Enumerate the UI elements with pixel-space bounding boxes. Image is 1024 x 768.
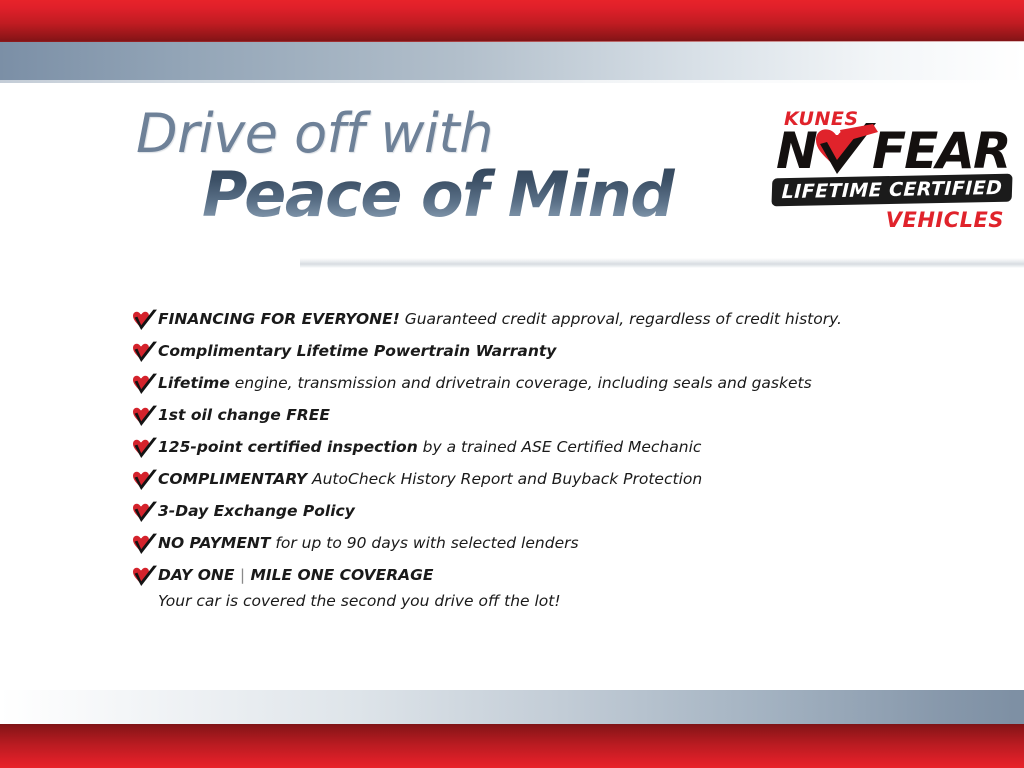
bottom-red-band	[0, 724, 1024, 768]
benefit-text: Lifetime engine, transmission and drivet…	[158, 372, 812, 394]
logo-certified-bar-text: LIFETIME CERTIFIED	[771, 174, 1012, 207]
page-title: Drive off with Peace of Mind	[136, 104, 756, 228]
benefit-detail: AutoCheck History Report and Buyback Pro…	[307, 470, 702, 488]
logo-nofear-wordmark: N FEAR	[776, 126, 1014, 176]
top-gray-band	[0, 42, 1024, 83]
heart-check-icon	[132, 437, 158, 459]
benefit-text: Complimentary Lifetime Powertrain Warran…	[158, 340, 556, 362]
benefit-headline: 125-point certified inspection	[158, 438, 418, 456]
heart-check-icon	[132, 341, 158, 363]
kunes-no-fear-logo: KUNES N FEAR LIFETIME CERTIFIED VEHICLES	[770, 108, 1014, 240]
heart-check-icon	[132, 533, 158, 555]
heart-check-icon	[132, 469, 158, 491]
header-divider	[300, 258, 1024, 268]
benefit-item: NO PAYMENT for up to 90 days with select…	[132, 530, 932, 562]
heart-check-icon	[132, 373, 158, 395]
logo-certified-bar: LIFETIME CERTIFIED	[771, 174, 1012, 207]
benefit-detail: for up to 90 days with selected lenders	[270, 534, 578, 552]
benefit-item: 125-point certified inspection by a trai…	[132, 434, 932, 466]
benefit-item: 1st oil change FREE	[132, 402, 932, 434]
top-red-band	[0, 0, 1024, 42]
benefit-detail: engine, transmission and drivetrain cove…	[230, 374, 812, 392]
benefit-item: 3-Day Exchange Policy	[132, 498, 932, 530]
benefit-text: COMPLIMENTARY AutoCheck History Report a…	[158, 468, 702, 490]
logo-word-fear: FEAR	[872, 126, 1010, 176]
benefit-item: Complimentary Lifetime Powertrain Warran…	[132, 338, 932, 370]
benefit-headline: Complimentary Lifetime Powertrain Warran…	[158, 342, 556, 360]
benefit-detail: by a trained ASE Certified Mechanic	[418, 438, 702, 456]
benefit-text: 125-point certified inspection by a trai…	[158, 436, 701, 458]
benefit-detail: Guaranteed credit approval, regardless o…	[400, 310, 842, 328]
benefit-text: 3-Day Exchange Policy	[158, 500, 355, 522]
benefit-item: COMPLIMENTARY AutoCheck History Report a…	[132, 466, 932, 498]
heart-check-icon	[132, 565, 158, 587]
benefit-headline: DAY ONE | MILE ONE COVERAGE	[158, 566, 434, 584]
benefit-subtext: Your car is covered the second you drive…	[132, 590, 932, 612]
heart-check-icon	[132, 309, 158, 331]
logo-vehicles-text: VEHICLES	[886, 208, 1004, 232]
header: Drive off with Peace of Mind KUNES N FEA…	[0, 96, 1024, 266]
bottom-banner	[0, 690, 1024, 768]
benefits-list: FINANCING FOR EVERYONE! Guaranteed credi…	[132, 306, 932, 612]
headline-line-2: Peace of Mind	[136, 162, 756, 228]
benefit-headline: COMPLIMENTARY	[158, 470, 307, 488]
top-banner	[0, 0, 1024, 84]
benefit-item: FINANCING FOR EVERYONE! Guaranteed credi…	[132, 306, 932, 338]
benefit-headline: FINANCING FOR EVERYONE!	[158, 310, 400, 328]
benefit-text: NO PAYMENT for up to 90 days with select…	[158, 532, 579, 554]
benefit-headline: NO PAYMENT	[158, 534, 270, 552]
benefit-headline: 1st oil change FREE	[158, 406, 330, 424]
benefit-text: DAY ONE | MILE ONE COVERAGE	[158, 564, 434, 586]
benefit-headline: 3-Day Exchange Policy	[158, 502, 355, 520]
heart-check-icon	[132, 501, 158, 523]
headline-line-1: Drive off with	[136, 104, 756, 164]
heart-check-icon	[132, 405, 158, 427]
benefit-text: FINANCING FOR EVERYONE! Guaranteed credi…	[158, 308, 842, 330]
benefit-text: 1st oil change FREE	[158, 404, 330, 426]
benefit-item: Lifetime engine, transmission and drivet…	[132, 370, 932, 402]
benefit-headline: Lifetime	[158, 374, 230, 392]
bottom-gray-band	[0, 690, 1024, 724]
